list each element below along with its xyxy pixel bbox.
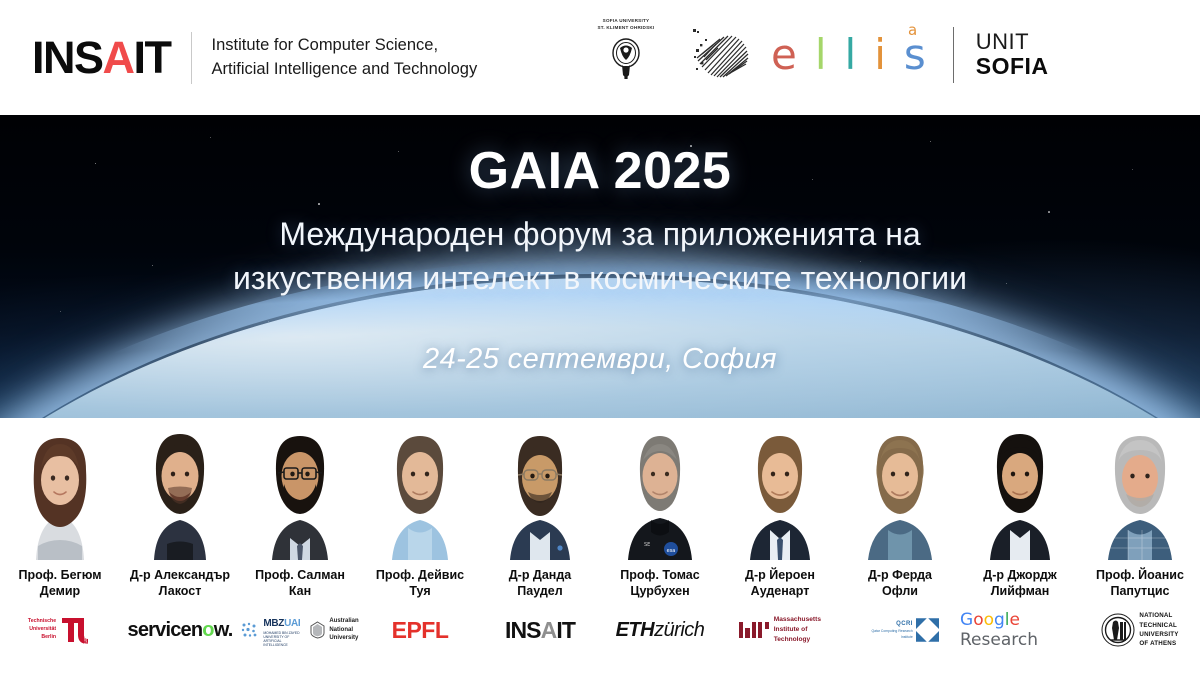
mbzuai-logo: MBZUAI MOHAMED BIN ZAYED UNIVERSITY OF A… (241, 613, 303, 647)
insait-wordmark-logo: INSAIT (32, 35, 171, 80)
mit-logo: Massachusetts Institute of Technology (739, 615, 821, 645)
mbzuai-anu-logos: MBZUAI MOHAMED BIN ZAYED UNIVERSITY OF A… (241, 613, 358, 647)
eth-bold-text: ETH (616, 619, 655, 642)
ntua-logo: NATIONAL TECHNICAL UNIVERSITY OF ATHENS (1101, 611, 1178, 648)
ellis-divider (953, 27, 954, 83)
event-hero-banner: GAIA 2025 Международен форум за приложен… (0, 115, 1200, 418)
ntua-line-3: UNIVERSITY (1139, 630, 1178, 639)
speaker-name-line-1: Д-р Йероен (721, 567, 839, 583)
servicenow-accent-o: o (202, 619, 213, 642)
insait-speaker-logo: INSAIT (505, 617, 575, 644)
insait-logo-accent-a: A (103, 32, 134, 83)
ellis-letter-i: i (865, 34, 895, 76)
speaker-card[interactable]: Проф. Дейвис Туя EPFL (360, 418, 480, 674)
speaker-affiliation-logo: MBZUAI MOHAMED BIN ZAYED UNIVERSITY OF A… (240, 607, 360, 653)
anu-line-3: University (329, 634, 358, 643)
insait-logo-accent-a: A (541, 617, 557, 643)
speaker-name: Проф. Томас Цурбухен (601, 567, 719, 600)
tu-berlin-line-3: Berlin (28, 634, 56, 642)
tu-berlin-mark-icon: Berlin (60, 615, 92, 645)
ntua-line-4: OF ATHENS (1139, 639, 1178, 648)
speaker-card[interactable]: Д-р Джордж Лийфман Google Research (960, 418, 1080, 674)
speaker-name-line-2: Ауденарт (721, 583, 839, 599)
speaker-name-line-2: Офли (841, 583, 959, 599)
speaker-name-line-1: Проф. Бегюм (1, 567, 119, 583)
unit-sofia-line-2: SOFIA (976, 54, 1049, 80)
speaker-name-line-2: Цурбухен (601, 583, 719, 599)
speaker-affiliation-logo: servicenow. (120, 607, 240, 653)
eth-zurich-logo: ETHzürich (616, 619, 705, 642)
tu-berlin-line-1: Technische (28, 618, 56, 626)
insait-brand: INSAIT Institute for Computer Science, A… (32, 32, 477, 84)
speaker-name-line-2: Кан (241, 583, 359, 599)
speaker-photo (840, 418, 960, 560)
speaker-name-line-2: Туя (361, 583, 479, 599)
insait-logo-part1: INS (505, 617, 541, 643)
header-divider (191, 32, 192, 84)
qcri-abbr: QCRI (861, 620, 913, 629)
speaker-photo (0, 418, 120, 560)
speaker-name: Проф. Дейвис Туя (361, 567, 479, 600)
anu-line-2: National (329, 626, 358, 635)
unit-sofia-label: UNIT SOFIA (976, 30, 1049, 80)
event-subtitle: Международен форум за приложенията на из… (0, 212, 1200, 300)
insait-logo-part1: INS (32, 32, 103, 83)
speaker-card[interactable]: Д-р Александър Лакост servicenow. (120, 418, 240, 674)
speaker-name-line-2: Демир (1, 583, 119, 599)
anu-crest-icon (309, 621, 326, 639)
poster-page: INSAIT Institute for Computer Science, A… (0, 0, 1200, 674)
speaker-name-line-1: Д-р Ферда (841, 567, 959, 583)
speakers-strip: Проф. Бегюм Демир Technische Universität… (0, 418, 1200, 674)
speaker-name: Проф. Бегюм Демир (1, 567, 119, 600)
speaker-name-line-1: Проф. Дейвис (361, 567, 479, 583)
speaker-name: Д-р Йероен Ауденарт (721, 567, 839, 600)
speaker-photo (120, 418, 240, 560)
speaker-name-line-1: Проф. Томас (601, 567, 719, 583)
ellis-letter-l1: l (806, 34, 836, 76)
speaker-affiliation-logo: Google Research (960, 607, 1080, 653)
svg-text:Berlin: Berlin (82, 633, 88, 645)
header-logo-bar: INSAIT Institute for Computer Science, A… (0, 0, 1200, 115)
sofia-university-seal-icon (608, 35, 644, 81)
speaker-affiliation-logo: EPFL (360, 607, 480, 653)
speaker-name-line-1: Проф. Йоанис (1081, 567, 1199, 583)
epfl-logo: EPFL (392, 617, 449, 644)
mbzuai-dots-icon (241, 622, 258, 639)
qcri-triangles-icon (916, 618, 940, 642)
speaker-card[interactable]: esa SE Проф. Томас Цурбухен ETHzürich (600, 418, 720, 674)
mbzuai-abbr-mbz: MBZ (263, 618, 284, 629)
speaker-name-line-1: Д-р Джордж (961, 567, 1079, 583)
event-subtitle-line-1: Международен форум за приложенията на (0, 212, 1200, 256)
ntua-line-2: TECHNICAL (1139, 621, 1178, 630)
ntua-line-1: NATIONAL (1139, 611, 1178, 620)
speaker-name: Д-р Александър Лакост (121, 567, 239, 600)
eth-zurich-text: zürich (654, 619, 704, 642)
mbzuai-subtitle: MOHAMED BIN ZAYED UNIVERSITY OF ARTIFICI… (263, 631, 303, 647)
tagline-line-1: Institute for Computer Science, (212, 34, 478, 58)
speaker-card[interactable]: Д-р Данда Паудел INSAIT (480, 418, 600, 674)
speaker-name: Д-р Данда Паудел (481, 567, 599, 600)
speaker-name: Д-р Ферда Офли (841, 567, 959, 600)
mit-line-3: Technology (774, 635, 821, 645)
qcri-subtitle: Qatar Computing Research Institute (861, 629, 913, 639)
speaker-name: Проф. Салман Кан (241, 567, 359, 600)
speaker-name-line-2: Паудел (481, 583, 599, 599)
ellis-scribble-icon (692, 27, 754, 83)
speaker-affiliation-logo: Technische Universität Berlin Berlin (0, 607, 120, 653)
unit-sofia-line-1: UNIT (976, 30, 1049, 55)
banner-text-layer: GAIA 2025 Международен форум за приложен… (0, 115, 1200, 418)
event-title: GAIA 2025 (0, 141, 1200, 201)
ellis-superscript-a: a (908, 21, 917, 39)
speaker-name-line-2: Папутцис (1081, 583, 1199, 599)
servicenow-logo: servicenow. (128, 619, 233, 642)
speaker-photo (240, 418, 360, 560)
speaker-name: Д-р Джордж Лийфман (961, 567, 1079, 600)
servicenow-text-1: servicen (128, 619, 203, 642)
tu-berlin-logo: Technische Universität Berlin Berlin (28, 615, 92, 645)
insait-logo-part2: IT (134, 32, 171, 83)
svg-text:esa: esa (667, 548, 676, 554)
sofia-university-line-2: ST. KLIMENT OHRIDSKI (566, 25, 686, 32)
speaker-photo: esa SE (600, 418, 720, 560)
speaker-name-line-2: Лакост (121, 583, 239, 599)
mit-line-2: Institute of (774, 625, 821, 635)
speaker-card[interactable]: Д-р Ферда Офли QCRI Qatar Computing Rese… (840, 418, 960, 674)
ellis-wordmark: e l l i s a (762, 34, 935, 76)
speaker-affiliation-logo: Massachusetts Institute of Technology (720, 607, 840, 653)
speaker-name-line-1: Проф. Салман (241, 567, 359, 583)
speaker-name: Проф. Йоанис Папутцис (1081, 567, 1199, 600)
ellis-letter-l2: l (836, 34, 866, 76)
speaker-affiliation-logo: ETHzürich (600, 607, 720, 653)
speaker-affiliation-logo: INSAIT (480, 607, 600, 653)
speaker-card[interactable]: Д-р Йероен Ауденарт Massachusetts Instit… (720, 418, 840, 674)
qcri-logo: QCRI Qatar Computing Research Institute (861, 618, 940, 642)
google-research-logo: Google Research (960, 610, 1080, 650)
speaker-card[interactable]: Проф. Йоанис Папутцис NATIONAL TEC (1080, 418, 1200, 674)
mbzuai-abbr-uai: UAI (284, 618, 300, 629)
svg-text:SE: SE (644, 542, 650, 548)
speaker-photo (480, 418, 600, 560)
speaker-affiliation-logo: QCRI Qatar Computing Research Institute (840, 607, 960, 653)
speaker-photo (360, 418, 480, 560)
speaker-photo (960, 418, 1080, 560)
event-date-location: 24-25 септември, София (0, 343, 1200, 376)
sofia-university-line-1: SOFIA UNIVERSITY (566, 18, 686, 25)
speaker-name-line-1: Д-р Данда (481, 567, 599, 583)
insait-logo-part2: IT (556, 617, 575, 643)
speaker-name-line-2: Лийфман (961, 583, 1079, 599)
speaker-card[interactable]: Проф. Салман Кан MBZUAI (240, 418, 360, 674)
servicenow-text-2: w. (214, 619, 233, 642)
sofia-university-logo: SOFIA UNIVERSITY ST. KLIMENT OHRIDSKI (566, 18, 686, 86)
speaker-name-line-1: Д-р Александър (121, 567, 239, 583)
ellis-letter-s: s (895, 34, 935, 76)
google-research-suffix: Research (960, 630, 1038, 650)
speaker-photo (720, 418, 840, 560)
tagline-line-2: Artificial Intelligence and Technology (212, 58, 478, 82)
insait-tagline: Institute for Computer Science, Artifici… (212, 34, 478, 82)
ellis-brand: e l l i s a UNIT SOFIA (692, 24, 1049, 86)
mit-line-1: Massachusetts (774, 615, 821, 625)
event-subtitle-line-2: изкуствения интелект в космическите техн… (0, 256, 1200, 300)
ntua-seal-icon (1101, 613, 1135, 647)
speaker-photo (1080, 418, 1200, 560)
anu-logo: Australian National University (309, 617, 358, 643)
tu-berlin-line-2: Universität (28, 626, 56, 634)
anu-line-1: Australian (329, 617, 358, 626)
speaker-card[interactable]: Проф. Бегюм Демир Technische Universität… (0, 418, 120, 674)
ellis-letter-e: e (762, 34, 806, 76)
mit-bars-icon (739, 622, 769, 638)
speaker-affiliation-logo: NATIONAL TECHNICAL UNIVERSITY OF ATHENS (1080, 607, 1200, 653)
